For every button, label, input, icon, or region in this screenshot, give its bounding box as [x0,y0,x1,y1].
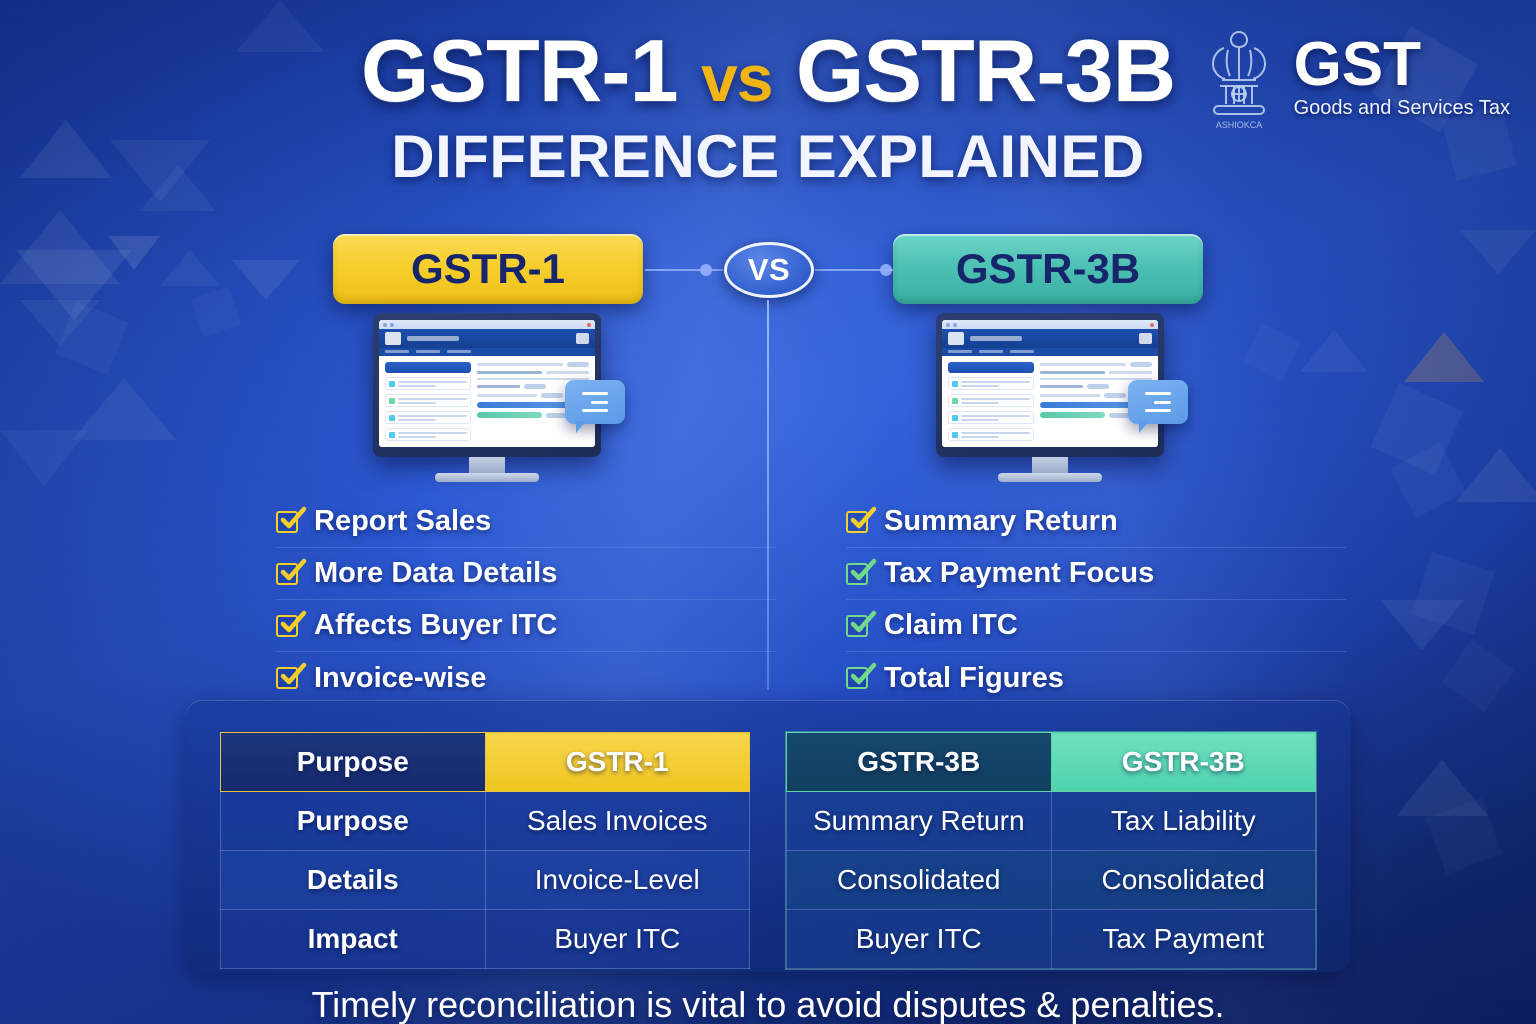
chat-bubble-icon [1128,380,1188,424]
comparison-table-gstr1: Purpose GSTR-1 Purpose Sales Invoices De… [220,732,750,969]
gst-wordmark: GST [1294,36,1510,95]
comparison-table-gstr3b: GSTR-3B GSTR-3B Summary Return Tax Liabi… [786,732,1316,969]
vs-dot-right [880,264,892,276]
row-label: Details [221,851,486,910]
monitor-screen [942,320,1158,447]
monitor-stand-base [435,473,539,482]
row-value: Buyer ITC [485,910,750,969]
table-row: Impact Buyer ITC [221,910,750,969]
portal-logo-icon [385,332,401,345]
table-header-purpose: Purpose [221,733,486,792]
item-icon [952,381,958,387]
vs-badge: VS [724,242,814,298]
monitor-stand-neck [469,457,505,473]
portal-list-item [385,411,471,424]
checklist-label: Affects Buyer ITC [314,609,557,642]
table-header-gstr3b-left: GSTR-3B [787,733,1052,792]
progress-bar-teal [1040,412,1105,418]
item-icon [952,415,958,421]
item-icon [389,381,395,387]
progress-bar-teal [477,412,542,418]
table-header-gstr3b-right: GSTR-3B [1051,733,1316,792]
checklist-item: More Data Details [276,548,776,600]
nav-item [1010,350,1034,353]
checkbox-checked-icon [846,667,868,689]
checkbox-checked-icon [276,615,298,637]
checklist-gstr3b: Summary Return Tax Payment Focus Claim I… [846,496,1346,704]
portal-body [379,356,595,447]
portal-list-item [385,428,471,441]
nav-item [416,350,440,353]
checkbox-checked-icon [846,563,868,585]
row-label: Impact [221,910,486,969]
vs-dot-left [700,264,712,276]
page-subtitle: DIFFERENCE EXPLAINED [0,122,1536,191]
portal-primary-button [948,362,1034,373]
gst-tagline: Goods and Services Tax [1294,97,1510,120]
monitor-stand-neck [1032,457,1068,473]
item-icon [389,415,395,421]
portal-list-item [948,428,1034,441]
checkbox-checked-icon [276,667,298,689]
portal-logo-icon [948,332,964,345]
nav-item [948,350,972,353]
checkbox-checked-icon [846,511,868,533]
row-label: Buyer ITC [787,910,1052,969]
browser-dot-icon [946,323,950,327]
nav-item [447,350,471,353]
ashoka-emblem-icon: ASHIOKCA [1198,24,1280,132]
checklist-label: Report Sales [314,505,491,538]
infographic-canvas: GSTR-1 vs GSTR-3B DIFFERENCE EXPLAINED [0,0,1536,1024]
checklist-item: Summary Return [846,496,1346,548]
nav-item [385,350,409,353]
row-value: Sales Invoices [485,792,750,851]
checklist-label: Invoice-wise [314,662,486,695]
browser-close-icon [587,323,591,327]
item-icon [952,432,958,438]
title-right-term: GSTR-3B [796,21,1175,120]
badge-gstr1[interactable]: GSTR-1 [333,234,643,304]
portal-body [942,356,1158,447]
browser-dot-icon [390,323,394,327]
portal-appbar [379,329,595,347]
portal-list-item [385,394,471,407]
title-left-term: GSTR-1 [361,21,678,120]
checklist-item: Report Sales [276,496,776,548]
row-label: Summary Return [787,792,1052,851]
portal-list-item [385,377,471,390]
portal-list-item [948,411,1034,424]
gst-logo: ASHIOKCA GST Goods and Services Tax [1198,24,1510,132]
portal-list-item [948,377,1034,390]
browser-bar [942,320,1158,329]
portal-navbar [942,348,1158,356]
item-icon [952,398,958,404]
monitor-mockup-gstr3b [936,313,1164,482]
checklist-gstr1: Report Sales More Data Details Affects B… [276,496,776,704]
browser-dot-icon [953,323,957,327]
portal-title-placeholder [970,336,1022,341]
checkbox-checked-icon [846,615,868,637]
item-icon [389,398,395,404]
emblem-caption: ASHIOKCA [1215,120,1262,130]
portal-sidebar [948,362,1034,441]
portal-user-icon [576,333,589,344]
table-header-gstr1: GSTR-1 [485,733,750,792]
chat-bubble-icon [565,380,625,424]
checklist-item: Total Figures [846,652,1346,704]
checklist-item: Tax Payment Focus [846,548,1346,600]
table-row: Details Invoice-Level [221,851,750,910]
checklist-item: Affects Buyer ITC [276,600,776,652]
badge-gstr3b[interactable]: GSTR-3B [893,234,1203,304]
table-row: Buyer ITC Tax Payment [787,910,1316,969]
portal-appbar [942,329,1158,347]
browser-close-icon [1150,323,1154,327]
nav-item [979,350,1003,353]
table-row: Purpose Sales Invoices [221,792,750,851]
checklist-label: Tax Payment Focus [884,557,1154,590]
table-row: Summary Return Tax Liability [787,792,1316,851]
row-value: Tax Payment [1051,910,1316,969]
checklist-item: Claim ITC [846,600,1346,652]
monitor-screen [379,320,595,447]
row-value: Consolidated [1051,851,1316,910]
monitor-mockup-gstr1 [373,313,601,482]
table-header-row: Purpose GSTR-1 [221,733,750,792]
checklist-label: Summary Return [884,505,1118,538]
table-header-row: GSTR-3B GSTR-3B [787,733,1316,792]
row-label: Consolidated [787,851,1052,910]
portal-title-placeholder [407,336,459,341]
browser-dot-icon [383,323,387,327]
checklist-item: Invoice-wise [276,652,776,704]
checklist-label: Total Figures [884,662,1064,695]
checklist-label: Claim ITC [884,609,1018,642]
portal-sidebar [385,362,471,441]
portal-navbar [379,348,595,356]
item-icon [389,432,395,438]
checklist-label: More Data Details [314,557,557,590]
table-row: Consolidated Consolidated [787,851,1316,910]
row-value: Tax Liability [1051,792,1316,851]
comparison-table-panel: Purpose GSTR-1 Purpose Sales Invoices De… [186,700,1350,972]
row-label: Purpose [221,792,486,851]
footer-note: Timely reconciliation is vital to avoid … [0,984,1536,1024]
portal-list-item [948,394,1034,407]
row-value: Invoice-Level [485,851,750,910]
monitor-stand-base [998,473,1102,482]
portal-primary-button [385,362,471,373]
portal-user-icon [1139,333,1152,344]
checkbox-checked-icon [276,511,298,533]
title-vs-word: vs [701,41,772,115]
browser-bar [379,320,595,329]
checkbox-checked-icon [276,563,298,585]
